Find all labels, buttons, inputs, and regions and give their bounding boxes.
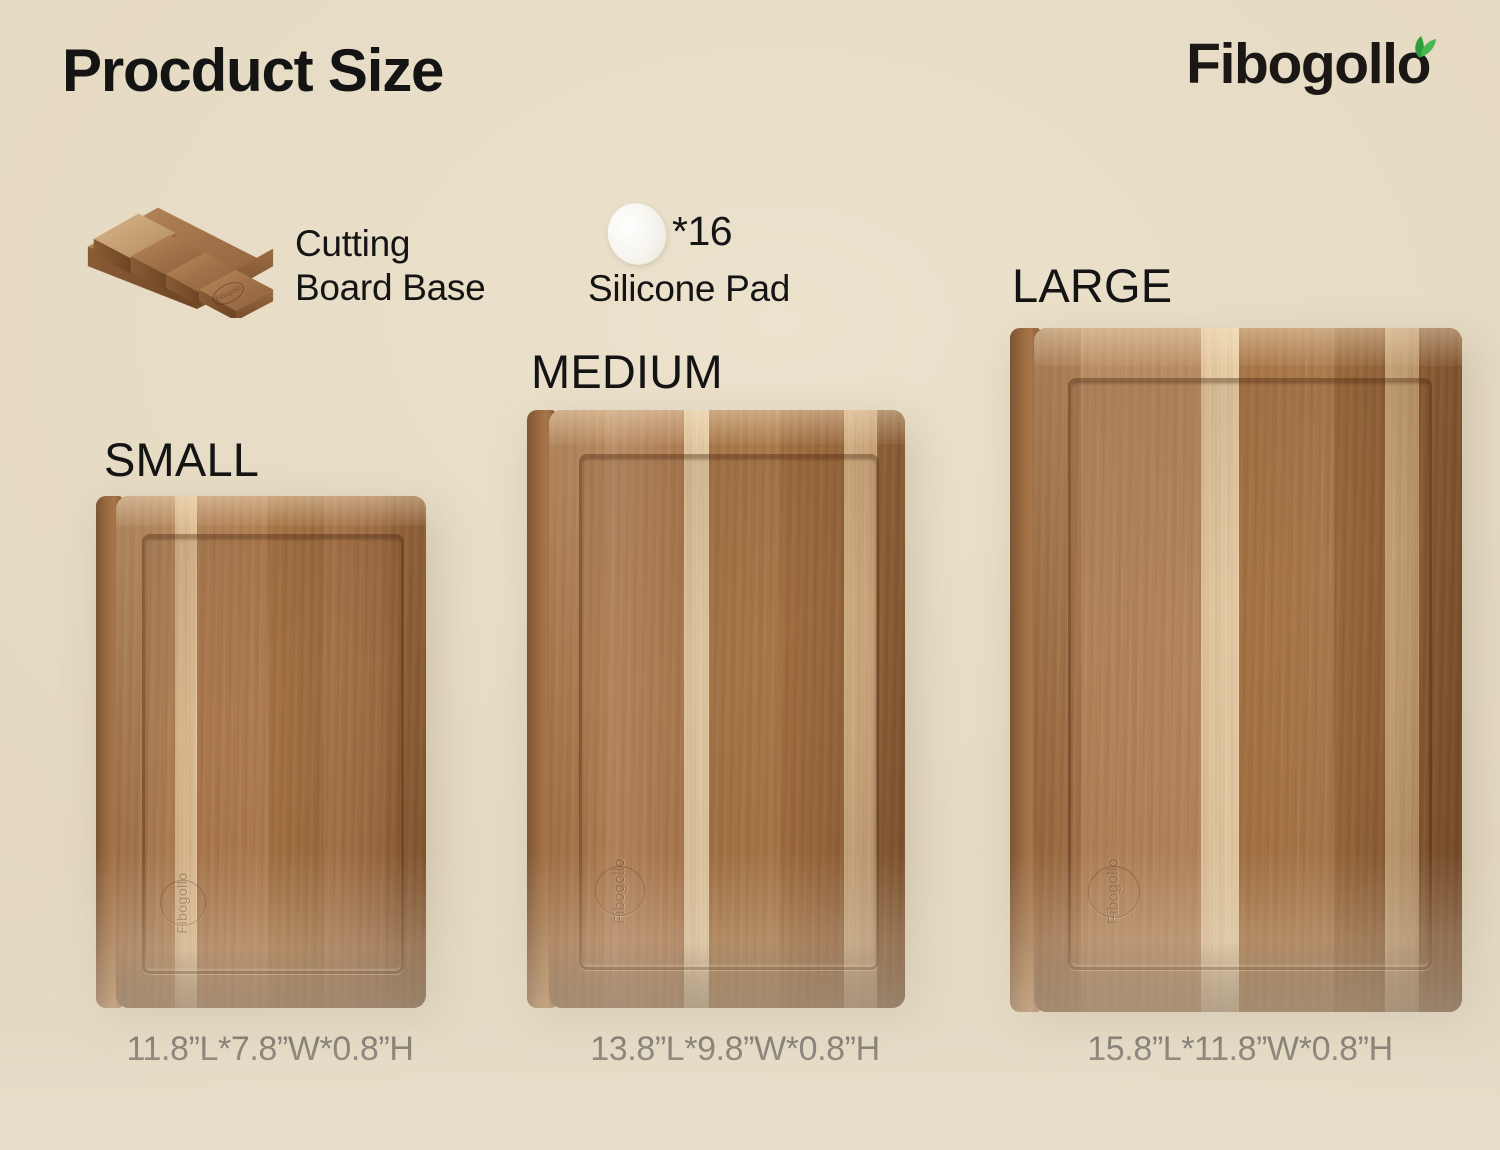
board-face-large: Fibogollo <box>1034 328 1462 1012</box>
dimension-caption-large: 15.8”L*11.8”W*0.8”H <box>1025 1030 1455 1069</box>
cutting-board-medium: Fibogollo <box>527 410 905 1008</box>
size-heading-medium: MEDIUM <box>531 344 723 399</box>
cutting-board-small: Fibogollo <box>96 496 426 1008</box>
wood-stand-icon: Fibogollo <box>82 186 277 318</box>
cutting-board-base-label-line2: Board Base <box>295 266 485 310</box>
size-heading-small: SMALL <box>104 432 259 487</box>
cutting-board-large: Fibogollo <box>1010 328 1462 1012</box>
board-engraving-ring-large <box>1088 866 1140 918</box>
size-heading-large: LARGE <box>1012 258 1172 313</box>
silicone-pad-count: *16 <box>672 208 732 255</box>
board-face-medium: Fibogollo <box>549 410 905 1008</box>
brand-logo: Fibogollo <box>1186 36 1434 93</box>
infographic-canvas: Procduct Size Fibogollo <box>0 0 1500 1150</box>
board-face-small: Fibogollo <box>116 496 426 1008</box>
board-engraving-ring-medium <box>595 866 645 916</box>
silicone-pad-label: Silicone Pad <box>588 268 790 310</box>
cutting-board-base-label: Cutting Board Base <box>295 222 485 309</box>
board-engraving-ring-small <box>160 880 206 926</box>
oval-pad-icon <box>598 194 675 273</box>
dimension-caption-small: 11.8”L*7.8”W*0.8”H <box>70 1030 470 1069</box>
cutting-board-base-label-line1: Cutting <box>295 222 485 266</box>
leaf-icon <box>1400 28 1434 62</box>
dimension-caption-medium: 13.8”L*9.8”W*0.8”H <box>525 1030 945 1069</box>
brand-name: Fibogollo <box>1186 36 1430 93</box>
page-title: Procduct Size <box>62 36 443 105</box>
